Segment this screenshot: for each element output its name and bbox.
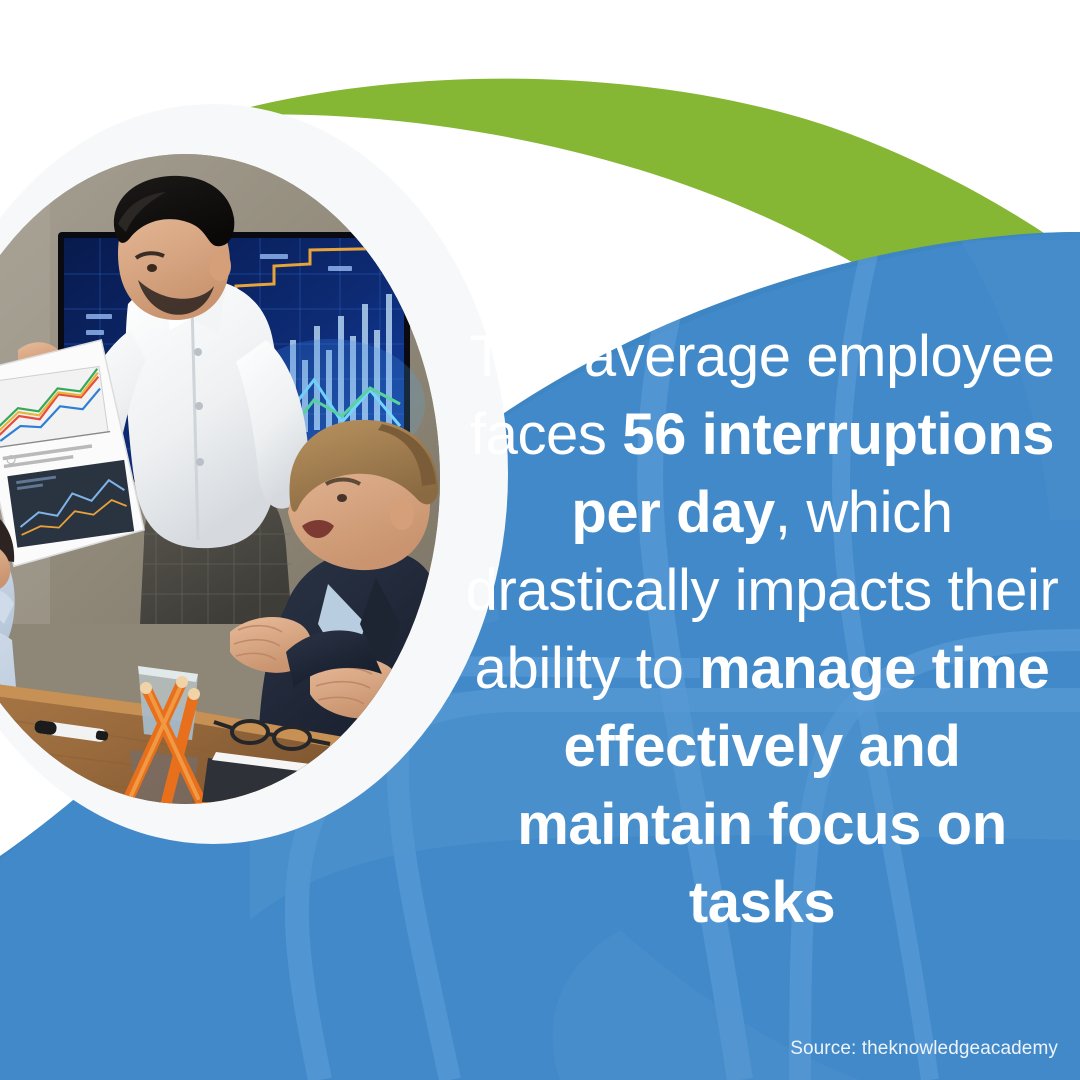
- infographic-canvas: The average employee faces 56 interrupti…: [0, 0, 1080, 1080]
- source-attribution: Source: theknowledgeacademy: [790, 1038, 1058, 1060]
- photo-circle: [0, 154, 440, 804]
- photo-circle-ring: [0, 104, 508, 844]
- quote-text: The average employee faces 56 interrupti…: [452, 318, 1072, 942]
- meeting-photo: [0, 154, 440, 804]
